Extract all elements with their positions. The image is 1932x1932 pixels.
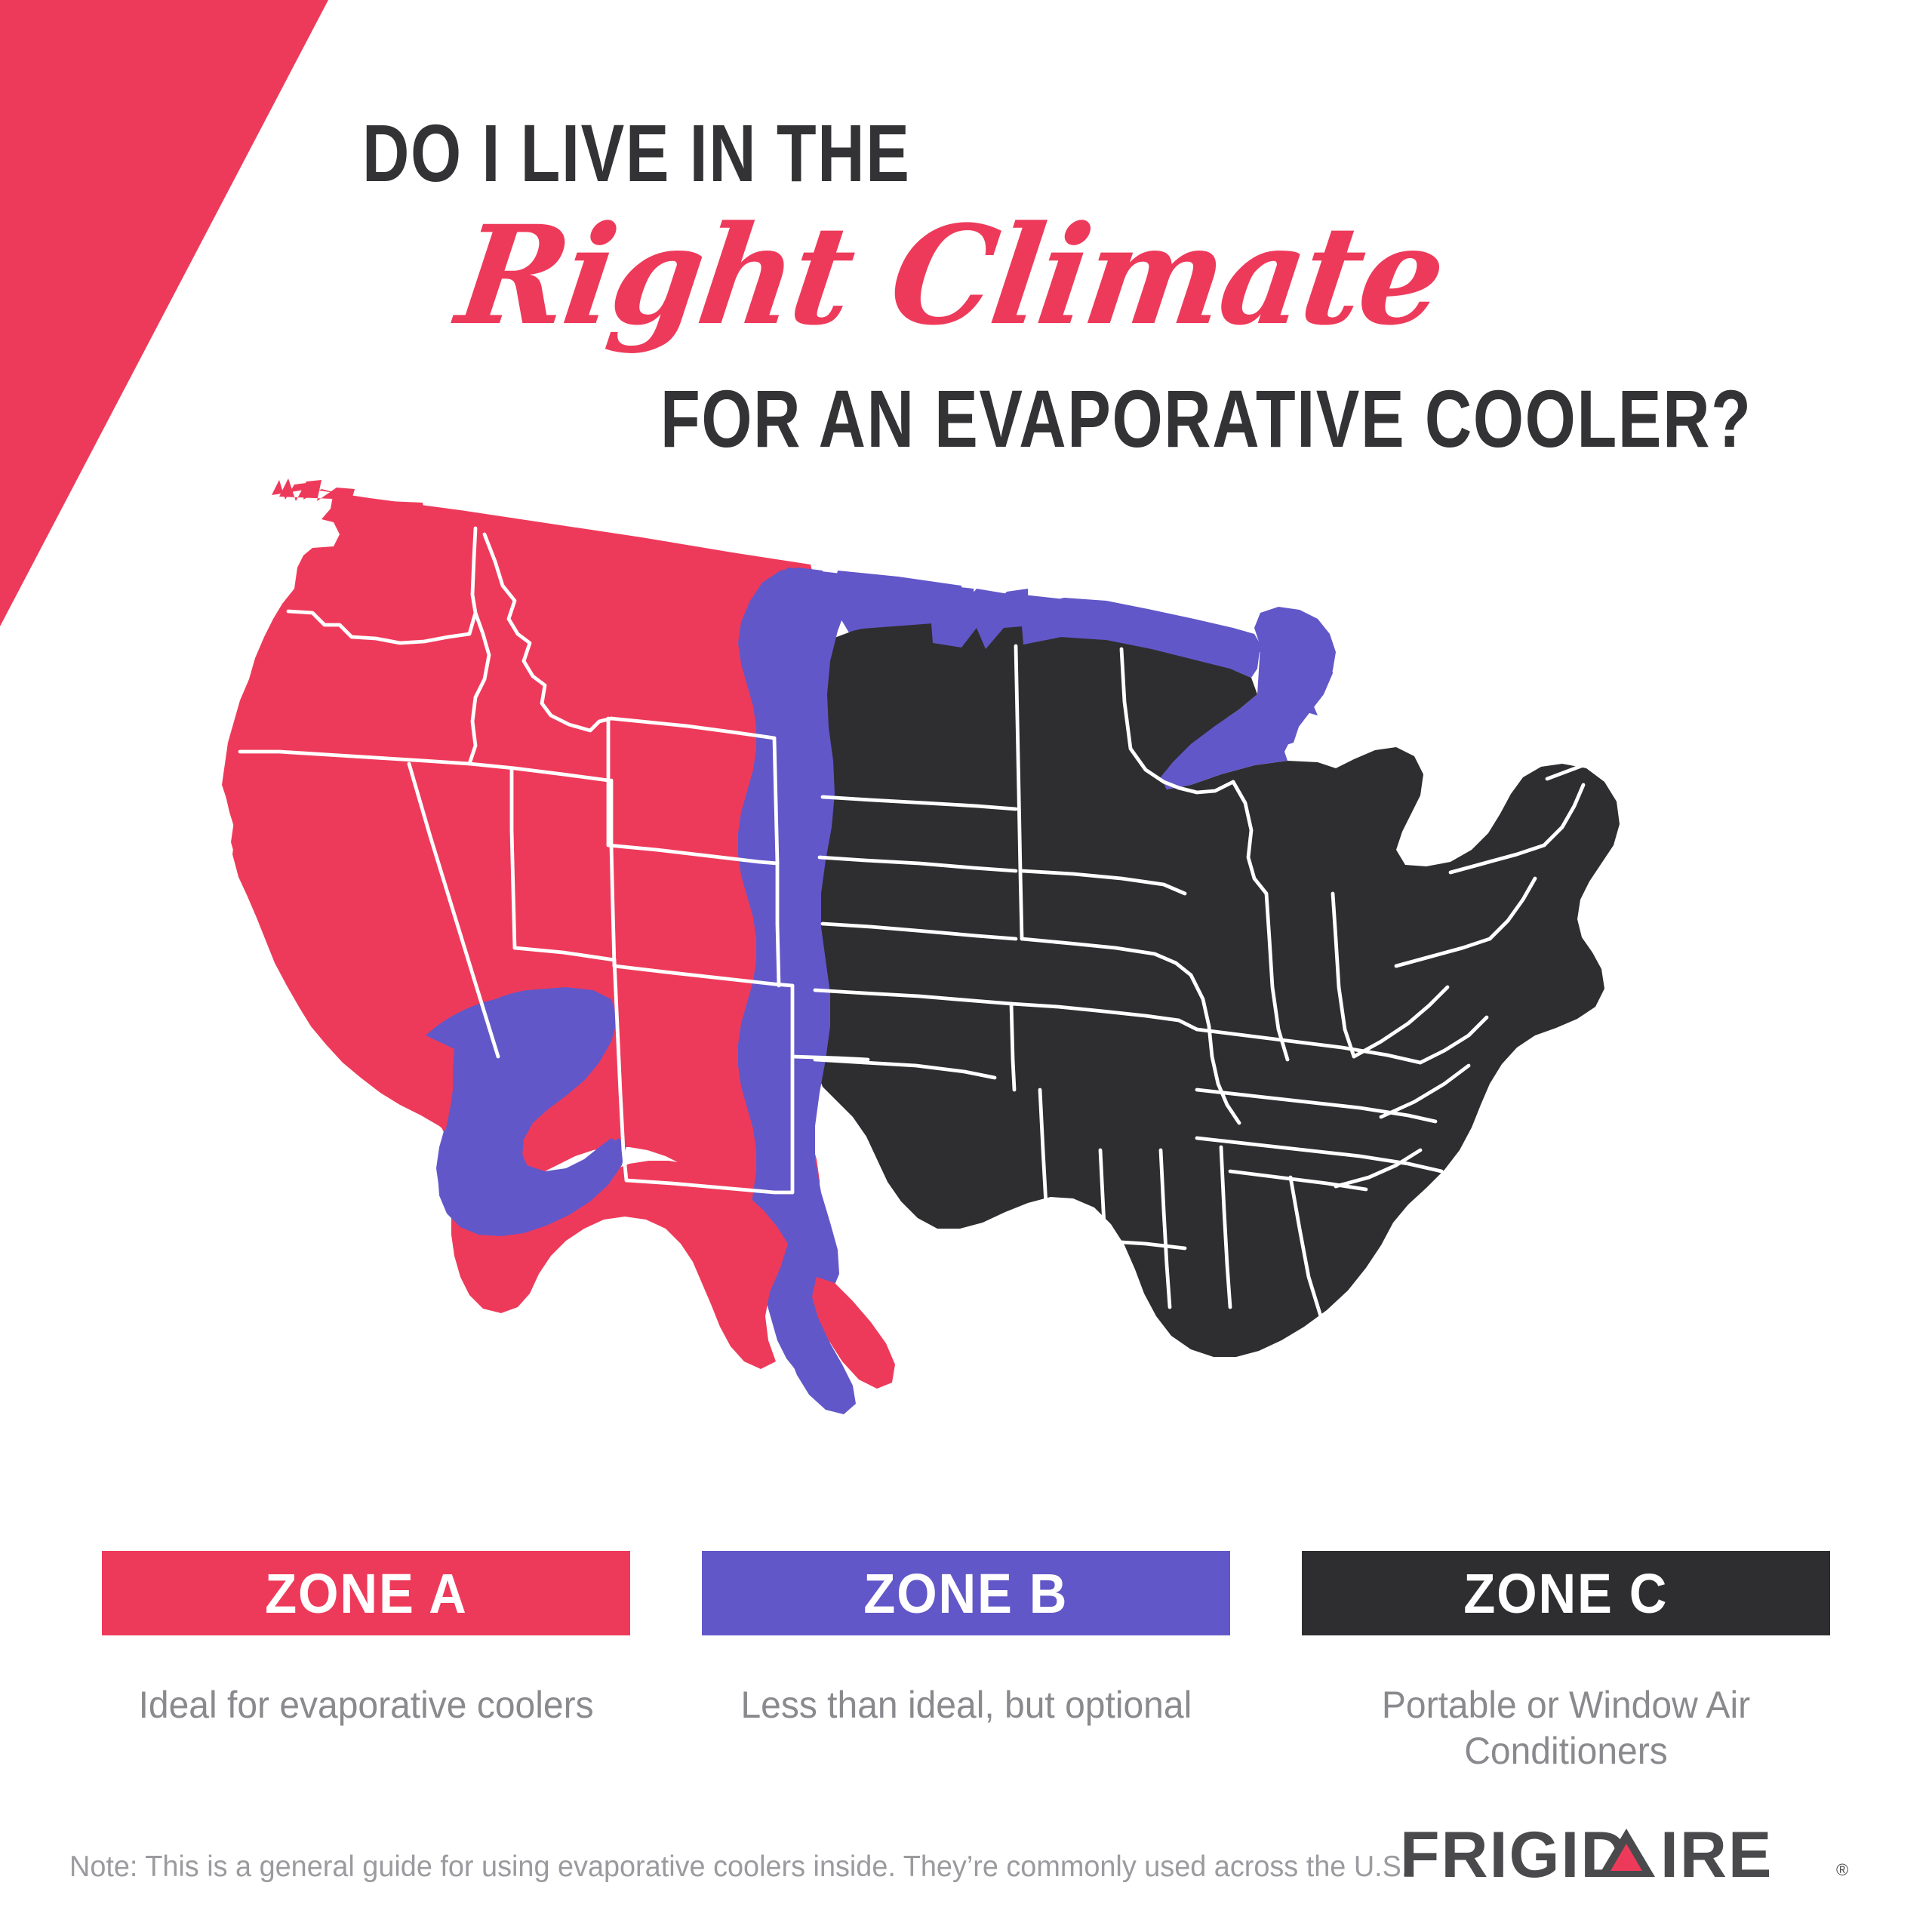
zone-c-label: ZONE C (1463, 1561, 1668, 1626)
title-line-1: DO I LIVE IN THE (362, 106, 910, 200)
page-title: DO I LIVE IN THE Right Climate FOR AN EV… (0, 91, 1932, 453)
footer-note: Note: This is a general guide for using … (69, 1850, 1358, 1884)
zone-a-label: ZONE A (265, 1561, 468, 1626)
zone-c-description: Portable or Window Air Conditioners (1312, 1682, 1820, 1774)
brand-text-ire: IRE (1660, 1819, 1773, 1891)
legend-item-zone-a: ZONE A Ideal for evaporative coolers (102, 1551, 630, 1774)
legend-item-zone-b: ZONE B Less than ideal, but optional (702, 1551, 1230, 1774)
frigidaire-wordmark-svg: FRIGID IRE ® (1400, 1815, 1883, 1906)
map-svg (189, 468, 1774, 1487)
brand-text-frigid: FRIGID (1400, 1819, 1629, 1891)
title-script-accent: Right Climate (449, 196, 1452, 355)
legend-item-zone-c: ZONE C Portable or Window Air Conditione… (1302, 1551, 1830, 1774)
zone-b-badge[interactable]: ZONE B (702, 1551, 1230, 1635)
zone-b-label: ZONE B (863, 1561, 1068, 1626)
zone-a-badge[interactable]: ZONE A (102, 1551, 630, 1635)
us-climate-zone-map (189, 468, 1774, 1487)
zone-c-badge[interactable]: ZONE C (1302, 1551, 1830, 1635)
zone-legend: ZONE A Ideal for evaporative coolers ZON… (0, 1551, 1932, 1774)
title-line-3: FOR AN EVAPORATIVE COOLER? (660, 371, 1752, 466)
frigidaire-logo: FRIGID IRE ® (1400, 1815, 1883, 1906)
registered-mark: ® (1836, 1860, 1848, 1879)
zone-b-description: Less than ideal, but optional (740, 1682, 1192, 1728)
zone-a-description: Ideal for evaporative coolers (139, 1682, 594, 1728)
